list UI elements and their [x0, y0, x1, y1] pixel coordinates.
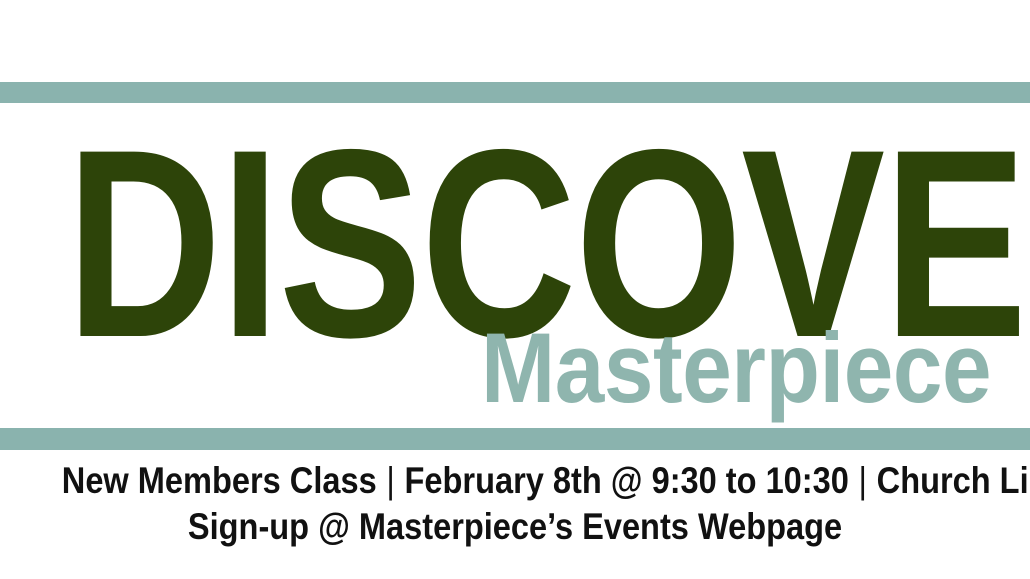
- detail-separator-1: |: [377, 458, 405, 504]
- event-details: New Members Class|February 8th @ 9:30 to…: [0, 450, 1030, 550]
- event-name: New Members Class: [62, 460, 377, 501]
- bottom-accent-rule: [0, 428, 1030, 450]
- event-details-line-1: New Members Class|February 8th @ 9:30 to…: [62, 458, 968, 504]
- event-signup-instruction: Sign-up @ Masterpiece’s Events Webpage: [62, 504, 968, 550]
- event-datetime: February 8th @ 9:30 to 10:30: [405, 460, 849, 501]
- detail-separator-2: |: [849, 458, 877, 504]
- event-announcement-poster: DISCOVER Masterpiece New Members Class|F…: [0, 0, 1030, 579]
- event-location: Church Library: [877, 460, 1030, 501]
- page-subtitle: Masterpiece: [481, 318, 991, 417]
- headline-block: DISCOVER Masterpiece: [0, 103, 1030, 428]
